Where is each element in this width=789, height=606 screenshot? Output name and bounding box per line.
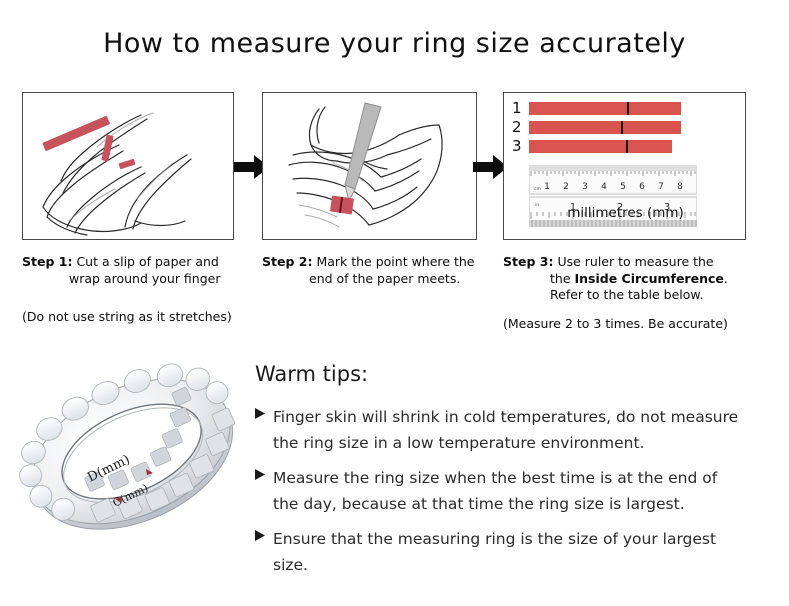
eternity-ring-diagram: D(mm) C(mm) <box>18 352 250 562</box>
strip-bar <box>529 121 681 134</box>
strip-mark <box>621 121 623 134</box>
tip-item: Measure the ring size when the best time… <box>255 465 775 517</box>
hand-marking-paper-with-pen-illustration <box>263 93 476 239</box>
tip-text: Measure the ring size when the best time… <box>273 465 743 517</box>
page-title: How to measure your ring size accurately <box>0 28 789 59</box>
step-3-line3: Refer to the table below. <box>503 287 746 304</box>
paper-strip-red <box>42 116 110 152</box>
strip-row: 1 <box>512 101 694 116</box>
ruler-cm-tick: 7 <box>658 182 664 192</box>
step-2-caption: Step 2: Mark the point where the end of … <box>262 254 477 287</box>
step-3-label: Step 3: <box>503 254 553 269</box>
step-2-column: Step 2: Mark the point where the end of … <box>262 92 477 287</box>
warm-tips-title: Warm tips: <box>255 362 775 386</box>
ruler-cm-tick: 6 <box>639 182 645 192</box>
bottom-section: D(mm) C(mm) Warm tips: Finger skin will … <box>0 352 789 592</box>
hand-with-paper-strip-illustration <box>23 93 233 239</box>
warm-tips-section: Warm tips: Finger skin will shrink in co… <box>255 362 775 587</box>
step-1-caption: Step 1: Cut a slip of paper and wrap aro… <box>22 254 234 287</box>
step-1-line2: wrap around your finger <box>22 271 234 288</box>
step-3-line2-bold: Inside Circumference <box>575 271 724 286</box>
ruler-cm-tick: 8 <box>677 182 683 192</box>
ruler-cm-tick: 1 <box>544 182 550 192</box>
tip-item: Ensure that the measuring ring is the si… <box>255 526 775 578</box>
step-3-line2-prefix: the <box>550 271 575 286</box>
step-3-caption: Step 3: Use ruler to measure the the Ins… <box>503 254 746 304</box>
strip-row: 2 <box>512 120 694 135</box>
step-3-line1: Use ruler to measure the <box>557 254 713 269</box>
ruler-cm-unit: cm <box>534 187 541 192</box>
step-1-column: Step 1: Cut a slip of paper and wrap aro… <box>22 92 234 325</box>
strip-mark <box>627 102 629 115</box>
measured-strips-group: 1 2 3 <box>512 101 694 158</box>
step-1-panel <box>22 92 234 240</box>
step-1-line1: Cut a slip of paper and <box>76 254 218 269</box>
step-3-note: (Measure 2 to 3 times. Be accurate) <box>503 316 746 332</box>
triangle-bullet-icon <box>255 465 273 480</box>
triangle-bullet-icon <box>255 404 273 419</box>
strip-number: 3 <box>512 139 529 154</box>
step-2-panel <box>262 92 477 240</box>
ruler-cm-tick: 3 <box>582 182 588 192</box>
step-2-line1: Mark the point where the <box>316 254 474 269</box>
step-1-note: (Do not use string as it stretches) <box>22 309 234 325</box>
tip-text: Finger skin will shrink in cold temperat… <box>273 404 743 456</box>
strip-bar <box>529 140 672 153</box>
step-2-line2: end of the paper meets. <box>262 271 477 288</box>
step-3-line2-suffix: . <box>724 271 728 286</box>
step-2-label: Step 2: <box>262 254 312 269</box>
ruler-cm-tick: 4 <box>601 182 607 192</box>
step-3-panel: 1 2 3 <box>503 92 746 240</box>
paper-strip-red <box>330 196 354 215</box>
step-3-line2: the Inside Circumference. <box>503 271 746 288</box>
ruler-unit-caption: millimetres (mm) <box>504 205 746 221</box>
strip-row: 3 <box>512 139 694 154</box>
steps-row: Step 1: Cut a slip of paper and wrap aro… <box>0 92 789 342</box>
triangle-bullet-icon <box>255 526 273 541</box>
step-1-label: Step 1: <box>22 254 72 269</box>
ruler-cm-tick: 2 <box>563 182 569 192</box>
strip-number: 1 <box>512 101 529 116</box>
tip-item: Finger skin will shrink in cold temperat… <box>255 404 775 456</box>
tip-text: Ensure that the measuring ring is the si… <box>273 526 743 578</box>
strip-number: 2 <box>512 120 529 135</box>
step-3-column: 1 2 3 <box>503 92 746 332</box>
ruler-cm-tick: 5 <box>620 182 626 192</box>
strip-bar <box>529 102 681 115</box>
strip-mark <box>626 140 628 153</box>
